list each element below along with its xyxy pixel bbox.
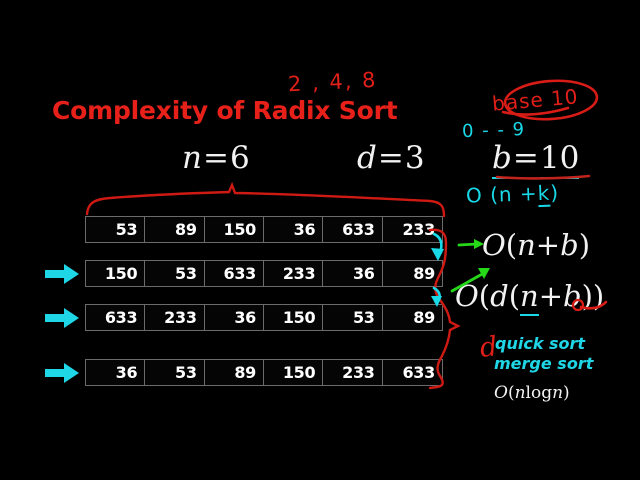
equals-sign: = xyxy=(512,140,540,176)
variable-b: b xyxy=(560,228,579,262)
table-cell: 233 xyxy=(264,261,323,286)
parameter-n-label: n=6 xyxy=(182,140,250,176)
parameter-d-value: 3 xyxy=(405,140,425,176)
plus-sign: + xyxy=(539,279,563,313)
annotation-digits-list: 2 , 4, 8 xyxy=(287,68,378,97)
table-cell: 53 xyxy=(145,360,204,385)
table-cell: 150 xyxy=(264,360,323,385)
table-row: 36 53 89 150 233 633 xyxy=(85,359,443,386)
table-cell: 53 xyxy=(323,305,382,330)
paren-close: ) xyxy=(579,228,590,262)
paren-close: ) xyxy=(563,383,570,403)
variable-n-inner: n xyxy=(552,383,563,403)
parameter-b-label: b=10 xyxy=(492,140,579,176)
table-row: 53 89 150 36 633 233 xyxy=(85,216,443,243)
plus-sign: + xyxy=(536,228,560,262)
table-cell: 150 xyxy=(264,305,323,330)
slide-canvas: Complexity of Radix Sort 2 , 4, 8 base 1… xyxy=(0,0,640,480)
table-cell: 633 xyxy=(323,217,382,242)
table-cell: 633 xyxy=(205,261,264,286)
variable-n: n xyxy=(517,228,536,262)
table-cell: 53 xyxy=(145,261,204,286)
table-cell: 36 xyxy=(323,261,382,286)
big-o-symbol: O xyxy=(482,228,506,262)
parameter-b-symbol: b xyxy=(492,140,512,179)
table-row: 150 53 633 233 36 89 xyxy=(85,260,443,287)
log-function: log xyxy=(526,383,553,403)
table-cell: 233 xyxy=(383,217,442,242)
variable-d: d xyxy=(490,279,509,313)
arrow-right-green-icon xyxy=(459,244,477,245)
parameter-d-symbol: d xyxy=(357,140,377,176)
paren-open: ( xyxy=(506,228,517,262)
brace-horizontal-icon xyxy=(87,185,444,216)
arrow-right-icon xyxy=(44,306,80,330)
counting-sort-prefix: O (n + xyxy=(466,181,538,207)
variable-n: n xyxy=(515,383,526,403)
paren-open: ( xyxy=(508,383,515,403)
table-cell: 36 xyxy=(86,360,145,385)
parameter-b-value: 10 xyxy=(540,140,579,179)
paren-open-inner: ( xyxy=(509,279,520,313)
big-o-symbol: O xyxy=(455,279,479,313)
comparison-sort-quick: quick sort xyxy=(495,334,585,353)
variable-b: b xyxy=(563,279,582,313)
table-cell: 633 xyxy=(86,305,145,330)
paren-open: ( xyxy=(479,279,490,313)
big-o-symbol: O xyxy=(494,383,508,403)
table-cell: 633 xyxy=(383,360,442,385)
page-title: Complexity of Radix Sort xyxy=(52,96,397,125)
table-cell: 53 xyxy=(86,217,145,242)
complexity-per-pass: O(n+b) xyxy=(482,228,590,262)
arrow-up-right-green-head xyxy=(478,268,490,279)
table-cell: 233 xyxy=(145,305,204,330)
table-cell: 36 xyxy=(205,305,264,330)
table-cell: 150 xyxy=(86,261,145,286)
parameter-n-value: 6 xyxy=(230,140,250,176)
complexity-comparison-sorts: O(nlogn) xyxy=(494,383,570,403)
arrow-right-icon xyxy=(44,361,80,385)
table-cell: 233 xyxy=(323,360,382,385)
equals-sign: = xyxy=(202,140,230,176)
annotation-base-note: base 10 xyxy=(491,84,579,115)
table-row: 633 233 36 150 53 89 xyxy=(85,304,443,331)
annotation-digit-range: 0 - - 9 xyxy=(462,119,526,142)
table-cell: 89 xyxy=(383,305,442,330)
equals-sign: = xyxy=(377,140,405,176)
parameter-n-symbol: n xyxy=(182,140,202,176)
complexity-total: O(d(n+b)) xyxy=(455,279,604,313)
table-cell: 89 xyxy=(145,217,204,242)
comparison-sort-merge: merge sort xyxy=(494,354,593,373)
arrow-down-curved-icon xyxy=(434,288,440,303)
counting-sort-suffix: ) xyxy=(550,180,560,204)
table-cell: 89 xyxy=(205,360,264,385)
paren-close: )) xyxy=(582,279,605,313)
variable-n: n xyxy=(520,279,539,316)
table-cell: 89 xyxy=(383,261,442,286)
arrow-right-icon xyxy=(44,262,80,286)
parameter-d-label: d=3 xyxy=(357,140,425,176)
table-cell: 36 xyxy=(264,217,323,242)
annotation-counting-sort-complexity: O (n +k) xyxy=(466,180,560,207)
table-cell: 150 xyxy=(205,217,264,242)
